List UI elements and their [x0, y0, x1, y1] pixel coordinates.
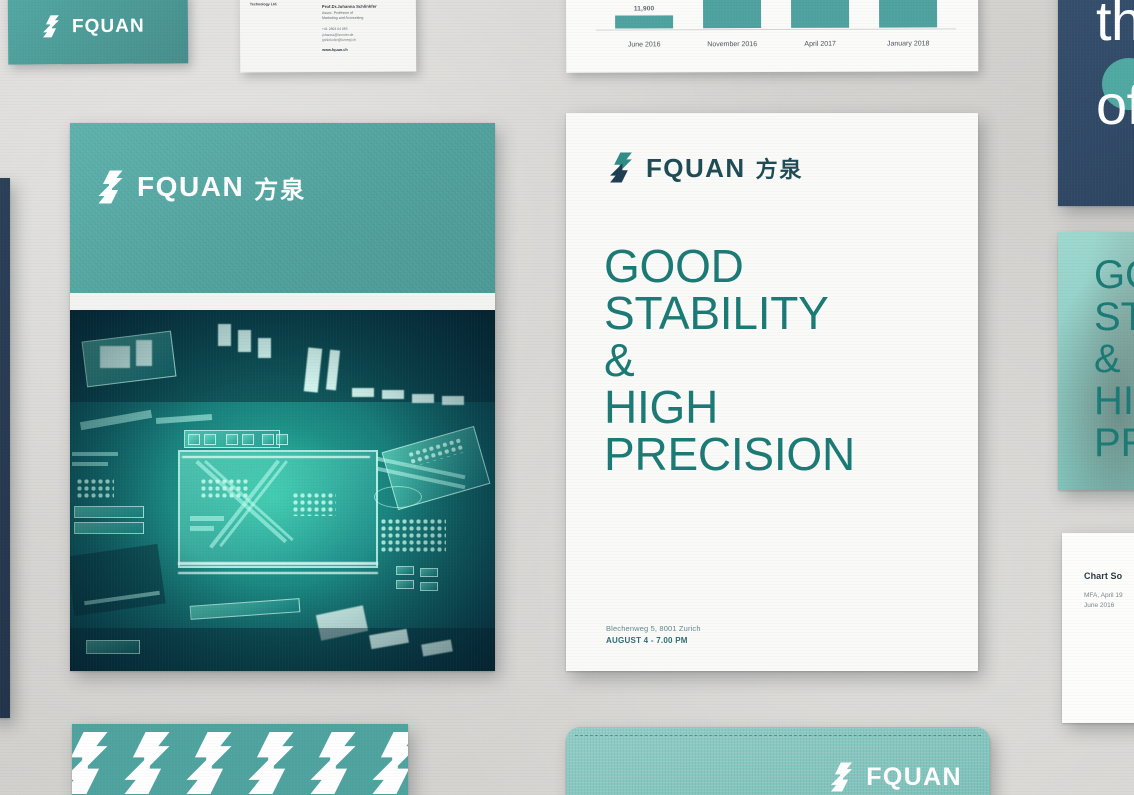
brochure-cover: FQUAN 方泉 — [70, 123, 495, 671]
bar-category-label: November 2016 — [688, 41, 776, 48]
bar — [703, 0, 761, 28]
headline-line: PRECISION — [604, 431, 956, 478]
poster-address: Blechenweg 5, 8001 Zurich — [606, 624, 701, 633]
headline-line: & — [1094, 338, 1134, 380]
bar-value-label: 11,900 — [634, 5, 654, 12]
headline-line: HI — [1094, 380, 1134, 422]
chart-source-sheet: Chart So MFA, April 19 June 2016 — [1062, 533, 1134, 723]
headline-line: ST — [1094, 296, 1134, 338]
branded-towel: FQUAN — [566, 727, 990, 795]
bar-chart: 11,90034,000.. — [600, 0, 952, 29]
pattern-strip — [72, 724, 408, 795]
headline-line: STABILITY — [604, 290, 956, 337]
business-card-role: Assoc. Professor of Marketing and Accoun… — [322, 11, 408, 22]
pattern-motif-row — [72, 724, 408, 795]
fquan-logo-icon — [40, 14, 62, 38]
wordmark-cjk: 方泉 — [756, 152, 804, 184]
brand-mockup-scene: FQUAN Technology Ltd. Prof.Dr.Johanna Sc… — [0, 0, 1134, 795]
navy-line-1: th — [1096, 0, 1134, 53]
headline-line: GO — [1094, 254, 1134, 296]
bar-category-label: January 2018 — [864, 40, 952, 47]
business-card-contact: +41 2803 64 085 johanna@hconter.de gshin… — [322, 27, 408, 43]
event-poster: FQUAN 方泉 GOODSTABILITY&HIGHPRECISION Ble… — [566, 113, 978, 671]
business-card-url: www.fquan.ch — [322, 47, 408, 51]
pattern-motif — [116, 724, 178, 795]
pattern-motif — [364, 724, 408, 795]
business-card-company: Technology Ltd. — [250, 2, 310, 8]
headline-line: GOOD — [604, 243, 956, 290]
logo-lockup: FQUAN — [40, 14, 145, 39]
sheet-subtext: MFA, April 19 June 2016 — [1084, 591, 1123, 612]
teal-poster-headline: GOST&HIPR — [1094, 254, 1134, 464]
headline-line: HIGH — [604, 384, 956, 431]
chart-sheet: 11,90034,000.. June 2016November 2016Apr… — [566, 0, 979, 73]
bar — [791, 0, 849, 28]
poster-headline: GOODSTABILITY&HIGHPRECISION — [604, 243, 956, 478]
pattern-motif — [178, 724, 240, 795]
pattern-motif — [240, 724, 302, 795]
pattern-motif — [72, 724, 116, 795]
navy-line-2: of — [1096, 72, 1134, 137]
bar-category-label: June 2016 — [600, 41, 688, 48]
headline-line: & — [604, 337, 956, 384]
wordmark: FQUAN — [646, 155, 746, 181]
bar-item: . — [776, 0, 864, 28]
wordmark: FQUAN — [72, 16, 145, 36]
chart-axis-line — [596, 28, 956, 30]
fquan-logo-icon — [827, 761, 856, 793]
poster-footer: Blechenweg 5, 8001 Zurich AUGUST 4 - 7.0… — [606, 624, 701, 645]
bar-category-label: April 2017 — [776, 41, 864, 48]
white-business-card: Technology Ltd. Prof.Dr.Johanna Schlinkf… — [240, 0, 417, 72]
navy-poster-panel: th of — [1058, 0, 1134, 206]
logo-lockup: FQUAN — [827, 761, 962, 793]
fquan-logo-icon — [94, 169, 127, 205]
bar-item: 11,900 — [600, 0, 688, 29]
left-edge-navy-panel — [0, 178, 10, 718]
bar-item: . — [864, 0, 952, 28]
bar — [879, 0, 937, 28]
business-card-name: Prof.Dr.Johanna Schlinkfer — [322, 4, 408, 9]
bar-item: 34,000 — [688, 0, 776, 28]
wordmark: FQUAN — [866, 765, 962, 790]
wordmark-cjk: 方泉 — [254, 170, 306, 205]
sheet-title: Chart So — [1084, 571, 1122, 581]
logo-lockup: FQUAN 方泉 — [94, 169, 306, 205]
wordmark: FQUAN — [137, 173, 244, 201]
pattern-motif — [302, 724, 364, 795]
poster-date: AUGUST 4 - 7.00 PM — [606, 636, 701, 645]
logo-lockup: FQUAN 方泉 — [606, 151, 803, 184]
brochure-header-band — [70, 123, 495, 293]
chart-x-axis-labels: June 2016November 2016April 2017January … — [600, 40, 952, 48]
bar — [615, 15, 673, 28]
bar-series: 11,90034,000.. — [600, 0, 952, 29]
business-card-details: Prof.Dr.Johanna Schlinkfer Assoc. Profes… — [322, 4, 408, 52]
fquan-logo-icon — [606, 151, 636, 184]
teal-business-card: FQUAN — [8, 0, 188, 65]
headline-line: PR — [1094, 422, 1134, 464]
teal-poster-panel: GOST&HIPR — [1058, 232, 1134, 490]
towel-stitching — [575, 735, 981, 736]
circuit-board-photo — [70, 310, 495, 671]
